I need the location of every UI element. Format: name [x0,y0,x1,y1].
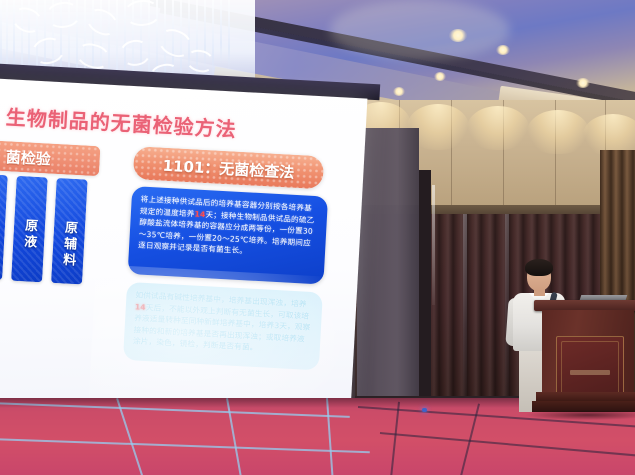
slide-box-label: 原液 [19,218,40,251]
wall-column-shadow [419,170,431,406]
slide-surface: 生物制品的无菌检验方法 菌检验 中间品 原液 原辅料 1101：无菌检查法 将上… [0,78,367,428]
podium-shadow [526,410,635,420]
slide-box-raw-material: 原辅料 [51,178,88,285]
slide-left-header-label: 菌检验 [5,146,51,169]
slide-box-intermediate: 中间品 [0,174,8,281]
stage-marker-light [422,408,427,412]
wall-wash-light [527,110,589,154]
photo-scene: 生物制品的无菌检验方法 菌检验 中间品 原液 原辅料 1101：无菌检查法 将上… [0,0,635,475]
carpet-grid-line [0,438,370,453]
carpet-grid-line [326,398,336,475]
slide-right-header: 1101：无菌检查法 [133,146,325,189]
podium [540,300,635,420]
podium-emblem [570,370,610,375]
carpet-grid-line [380,432,635,457]
slide-right-header-label: 1101：无菌检查法 [162,155,295,183]
downlight-icon [576,78,590,88]
podium-panel-inner-border [561,341,619,395]
slide-box-bulk: 原液 [11,176,48,283]
slide-title: 生物制品的无菌检验方法 [5,101,237,142]
slide-left-header: 菌检验 [0,137,100,176]
ceiling-glow [330,0,510,60]
wall-wash-light [467,106,529,150]
slide-box-label: 原辅料 [58,220,80,269]
slide-body-text: 将上述接种供试品后的培养基容器分别按各培养基规定的温度培养14天；接种生物制品供… [138,194,319,262]
speaker-hair [525,259,553,276]
slide-body-box-faded: 如供试品有碱性培养基中，培养基出现浑浊，培养14天后，不能以外观上判断有无菌生长… [123,282,323,370]
wall-column [357,128,419,406]
carpet-grid-line [226,398,247,475]
podium-front-panel [556,336,624,400]
slide-body-box: 将上述接种供试品后的培养基容器分别按各培养基规定的温度培养14天；接种生物制品供… [128,186,328,284]
podium-body [542,310,634,394]
slide-faded-highlight: 14 [135,302,146,312]
carpet-grid-line [385,402,400,475]
projection-screen: 生物制品的无菌检验方法 菌检验 中间品 原液 原辅料 1101：无菌检查法 将上… [0,78,367,428]
downlight-icon [393,87,405,96]
downlight-icon [496,45,510,55]
slide-body-highlight: 14 [194,209,205,219]
light-sliver [432,185,435,305]
slide-faded-text: 如供试品有碱性培养基中，培养基出现浑浊，培养14天后，不能以外观上判断有无菌生长… [133,289,314,357]
downlight-icon [434,72,446,81]
